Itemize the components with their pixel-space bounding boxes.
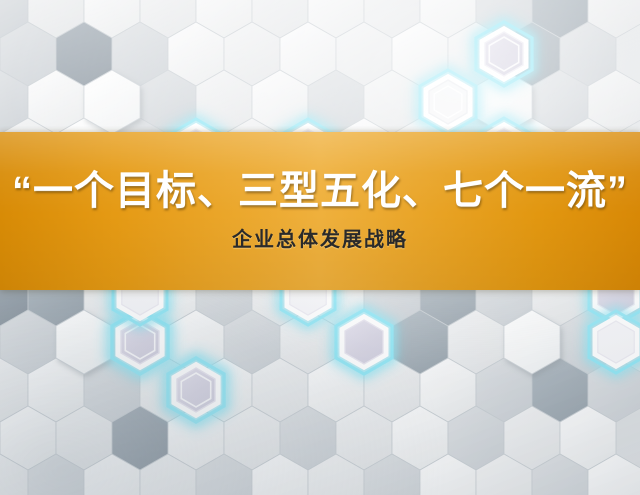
slide-canvas: “一个目标、三型五化、七个一流” 企业总体发展战略	[0, 0, 640, 495]
page-title: “一个目标、三型五化、七个一流”	[12, 170, 628, 213]
page-subtitle: 企业总体发展战略	[232, 228, 408, 252]
title-band: “一个目标、三型五化、七个一流” 企业总体发展战略	[0, 132, 640, 290]
